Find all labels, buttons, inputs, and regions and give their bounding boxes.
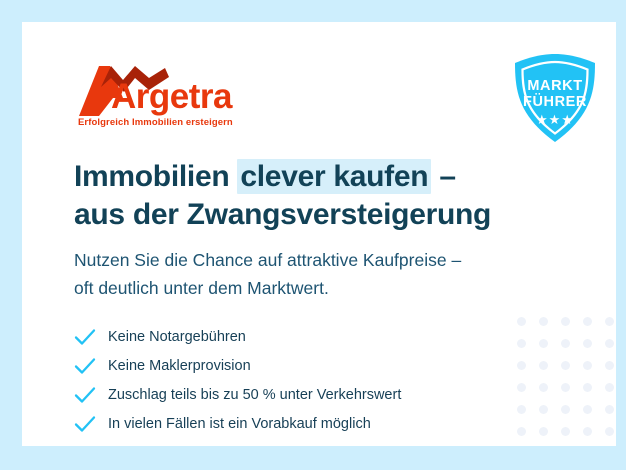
decorative-dot — [561, 427, 570, 436]
badge-line-2: FÜHRER — [509, 94, 601, 110]
decorative-dot — [583, 339, 592, 348]
decorative-dot — [517, 383, 526, 392]
headline-suffix: – — [431, 160, 455, 193]
logo-wordmark: Argetra — [111, 79, 232, 114]
list-item-label: Keine Maklerprovision — [108, 358, 251, 374]
decorative-dot — [517, 361, 526, 370]
page-title: Immobilien clever kaufen – aus der Zwang… — [74, 158, 491, 233]
list-item: Keine Notargebühren — [74, 322, 514, 351]
decorative-dot — [539, 339, 548, 348]
argetra-logo[interactable]: Argetra Erfolgreich Immobilien ersteiger… — [77, 64, 267, 134]
decorative-dot — [583, 317, 592, 326]
decorative-dot — [539, 427, 548, 436]
decorative-dot — [517, 405, 526, 414]
check-icon — [74, 386, 96, 404]
check-icon — [74, 328, 96, 346]
decorative-dot — [539, 405, 548, 414]
list-item: In vielen Fällen ist ein Vorabkauf mögli… — [74, 409, 514, 438]
decorative-dot — [539, 317, 548, 326]
decorative-dot — [583, 405, 592, 414]
list-item-label: Zuschlag teils bis zu 50 % unter Verkehr… — [108, 387, 401, 403]
list-item-label: Keine Notargebühren — [108, 329, 246, 345]
dot-grid-decoration — [517, 317, 616, 446]
decorative-dot — [561, 339, 570, 348]
badge-stars: ★★★ — [509, 112, 601, 128]
decorative-dot — [561, 405, 570, 414]
headline-highlight: clever kaufen — [237, 159, 431, 194]
decorative-dot — [561, 383, 570, 392]
decorative-dot — [605, 317, 614, 326]
decorative-dot — [605, 339, 614, 348]
decorative-dot — [517, 339, 526, 348]
decorative-dot — [517, 427, 526, 436]
benefits-list: Keine NotargebührenKeine Maklerprovision… — [74, 322, 514, 438]
subtitle: Nutzen Sie die Chance auf attraktive Kau… — [74, 246, 461, 302]
decorative-dot — [517, 317, 526, 326]
banner-card: Argetra Erfolgreich Immobilien ersteiger… — [22, 22, 616, 446]
headline-prefix: Immobilien — [74, 160, 237, 193]
decorative-dot — [539, 361, 548, 370]
decorative-dot — [561, 361, 570, 370]
decorative-dot — [605, 405, 614, 414]
decorative-dot — [605, 361, 614, 370]
subtitle-line-1: Nutzen Sie die Chance auf attraktive Kau… — [74, 246, 461, 274]
decorative-dot — [605, 383, 614, 392]
logo-tagline: Erfolgreich Immobilien ersteigern — [78, 117, 233, 128]
promo-banner: Argetra Erfolgreich Immobilien ersteiger… — [0, 0, 626, 470]
decorative-dot — [561, 317, 570, 326]
badge-line-1: MARKT — [509, 78, 601, 94]
check-icon — [74, 415, 96, 433]
subtitle-line-2: oft deutlich unter dem Marktwert. — [74, 274, 461, 302]
decorative-dot — [605, 427, 614, 436]
headline-line-2: aus der Zwangsversteigerung — [74, 196, 491, 234]
decorative-dot — [539, 383, 548, 392]
headline-line-1: Immobilien clever kaufen – — [74, 158, 491, 196]
decorative-dot — [583, 383, 592, 392]
decorative-dot — [583, 427, 592, 436]
list-item-label: In vielen Fällen ist ein Vorabkauf mögli… — [108, 416, 371, 432]
list-item: Zuschlag teils bis zu 50 % unter Verkehr… — [74, 380, 514, 409]
decorative-dot — [583, 361, 592, 370]
market-leader-badge: MARKT FÜHRER ★★★ — [509, 52, 601, 144]
check-icon — [74, 357, 96, 375]
list-item: Keine Maklerprovision — [74, 351, 514, 380]
